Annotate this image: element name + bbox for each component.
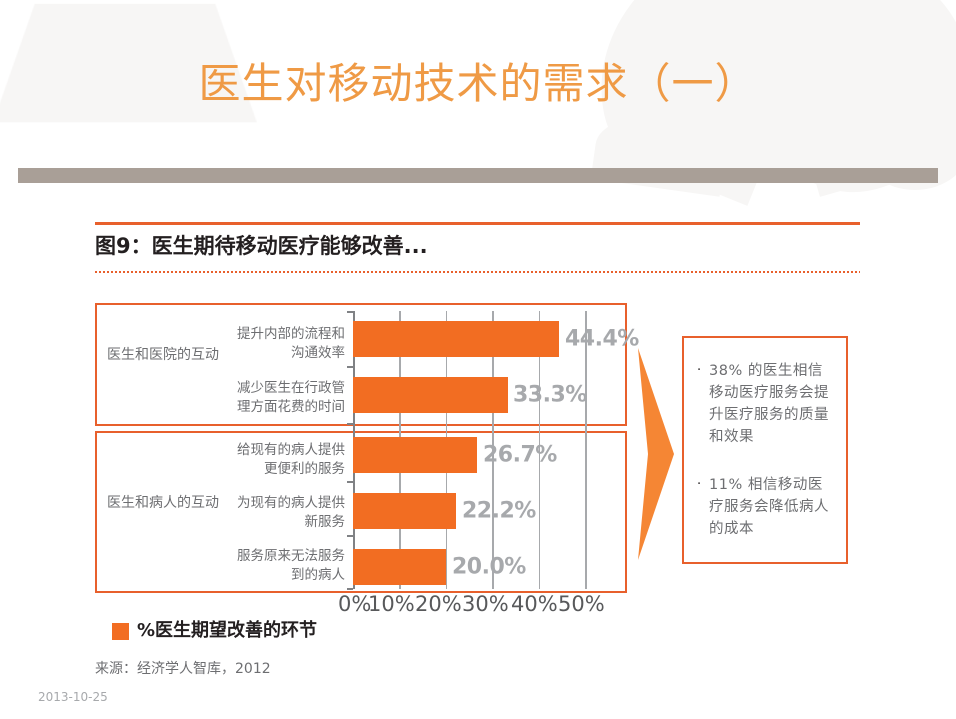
axis-tick-label-0: 0% <box>338 591 371 617</box>
bar-value-label: 26.7% <box>483 443 557 468</box>
category-label-line1: 为现有的病人提供 <box>237 495 345 511</box>
bar-row: 33.3% <box>353 377 601 413</box>
figure-title: 图9：医生期待移动医疗能够改善... <box>95 230 428 262</box>
callout-item-text: 38% 的医生相信移动医疗服务会提升医疗服务的质量和效果 <box>709 360 837 448</box>
slide: 医生对移动技术的需求（一） 图9：医生期待移动医疗能够改善... 医生和医院的互… <box>0 0 956 719</box>
axis-tick-label-30: 30% <box>462 591 509 617</box>
chart-legend: %医生期望改善的环节 <box>112 620 317 642</box>
slide-title: 医生对移动技术的需求（一） <box>0 58 956 110</box>
callout-item: · 38% 的医生相信移动医疗服务会提升医疗服务的质量和效果 <box>697 360 837 448</box>
category-label-line2: 新服务 <box>305 514 346 530</box>
divider-band <box>18 168 938 183</box>
bar-value-label: 33.3% <box>513 383 587 408</box>
category-label: 服务原来无法服务 到的病人 <box>195 547 345 585</box>
axis-tick-label-50: 50% <box>558 591 605 617</box>
category-label-line1: 服务原来无法服务 <box>237 548 345 564</box>
bar-row: 26.7% <box>353 437 601 473</box>
bar-20 <box>353 549 446 585</box>
bullet-icon: · <box>697 360 709 448</box>
category-label-line2: 到的病人 <box>291 567 345 583</box>
figure-top-rule <box>95 222 860 225</box>
bullet-icon: · <box>697 474 709 540</box>
category-label-line1: 给现有的病人提供 <box>237 442 345 458</box>
bar-26 <box>353 437 477 473</box>
bar-row: 20.0% <box>353 549 601 585</box>
bar-row: 22.2% <box>353 493 601 529</box>
right-arrow-icon <box>638 348 674 560</box>
category-label-line1: 提升内部的流程和 <box>237 326 345 342</box>
axis-tick <box>347 535 353 537</box>
bar-chart: 医生和医院的互动 医生和病人的互动 提升内部的流程和 沟通效率 减少医生在行政管… <box>95 303 629 593</box>
category-label-line2: 沟通效率 <box>291 345 345 361</box>
callout-box: · 38% 的医生相信移动医疗服务会提升医疗服务的质量和效果 · 11% 相信移… <box>682 336 848 564</box>
bar-value-label: 20.0% <box>452 555 526 580</box>
bar-44 <box>353 321 559 357</box>
category-label-line2: 更便利的服务 <box>264 461 345 477</box>
axis-tick <box>347 588 353 590</box>
category-label: 给现有的病人提供 更便利的服务 <box>195 441 345 479</box>
bar-value-label: 22.2% <box>462 499 536 524</box>
axis-tick <box>347 423 353 425</box>
callout-item: · 11% 相信移动医疗服务会降低病人的成本 <box>697 474 837 540</box>
legend-swatch-icon <box>112 623 129 640</box>
figure-dotted-rule <box>95 271 860 273</box>
plot-area: 44.4% 33.3% 26.7% 22.2% 20.0% <box>353 311 601 589</box>
axis-tick <box>347 481 353 483</box>
legend-label: %医生期望改善的环节 <box>137 620 317 642</box>
axis-tick-label-20: 20% <box>415 591 462 617</box>
figure-source: 来源：经济学人智库，2012 <box>95 659 271 679</box>
callout-item-text: 11% 相信移动医疗服务会降低病人的成本 <box>709 474 837 540</box>
slide-date: 2013-10-25 <box>38 689 108 705</box>
axis-tick <box>347 366 353 368</box>
category-label: 提升内部的流程和 沟通效率 <box>195 325 345 363</box>
axis-tick-label-10: 10% <box>368 591 415 617</box>
axis-tick <box>347 311 353 313</box>
axis-tick-label-40: 40% <box>511 591 558 617</box>
category-label: 减少医生在行政管 理方面花费的时间 <box>195 379 345 417</box>
bar-22 <box>353 493 456 529</box>
bar-value-label: 44.4% <box>565 327 639 352</box>
x-axis-labels: 0% 10% 20% 30% 40% 50% <box>95 591 635 621</box>
category-label-line1: 减少医生在行政管 <box>237 380 345 396</box>
category-label: 为现有的病人提供 新服务 <box>195 494 345 532</box>
category-label-line2: 理方面花费的时间 <box>237 399 345 415</box>
bar-row: 44.4% <box>353 321 601 357</box>
watermark-shape <box>591 109 729 196</box>
bar-33 <box>353 377 508 413</box>
